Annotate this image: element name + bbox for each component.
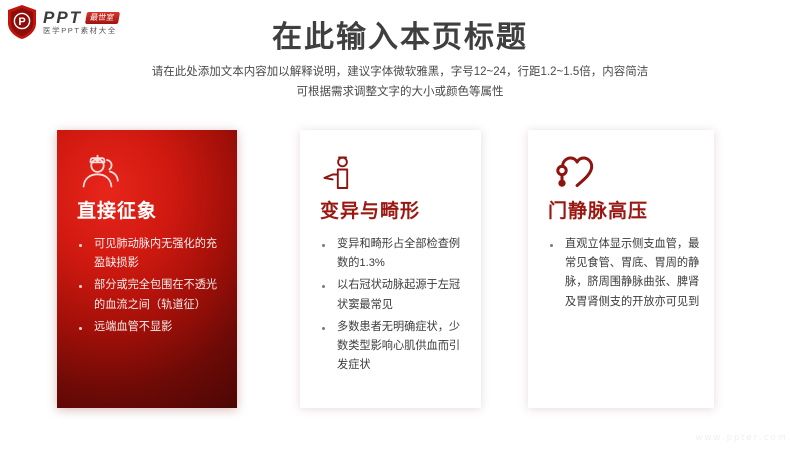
list-item: 远端血管不显影 — [77, 318, 221, 337]
card-bullet-list: 可见肺动脉内无强化的充盈缺损影 部分或完全包围在不透光的血流之间（轨道征） 远端… — [77, 235, 221, 337]
page-subtitle-line-1: 请在此处添加文本内容加以解释说明，建议字体微软雅黑，字号12~24，行距1.2~… — [0, 62, 800, 82]
card-title: 直接征象 — [77, 202, 221, 223]
doctor-group-icon — [77, 152, 221, 198]
page-title: 在此输入本页标题 — [0, 12, 800, 56]
card-direct-signs[interactable]: 直接征象 可见肺动脉内无强化的充盈缺损影 部分或完全包围在不透光的血流之间（轨道… — [57, 130, 237, 408]
list-item: 变异和畸形占全部检查例数的1.3% — [320, 235, 467, 274]
card-bullet-list: 变异和畸形占全部检查例数的1.3% 以右冠状动脉起源于左冠状窦最常见 多数患者无… — [320, 235, 467, 376]
list-item: 部分或完全包围在不透光的血流之间（轨道征） — [77, 276, 221, 315]
card-bullet-list: 直观立体显示侧支血管，最常见食管、胃底、胃周的静脉，脐周围静脉曲张、脾肾及胃肾侧… — [548, 235, 700, 312]
card-title: 变异与畸形 — [320, 202, 467, 223]
card-title: 门静脉高压 — [548, 202, 700, 223]
list-item: 多数患者无明确症状，少数类型影响心肌供血而引发症状 — [320, 318, 467, 376]
presenter-person-icon — [320, 152, 467, 198]
heart-stethoscope-icon — [548, 152, 700, 198]
site-watermark: www.ppter.com — [696, 432, 788, 442]
card-portal-hypertension[interactable]: 门静脉高压 直观立体显示侧支血管，最常见食管、胃底、胃周的静脉，脐周围静脉曲张、… — [528, 130, 714, 408]
card-variation-deformity[interactable]: 变异与畸形 变异和畸形占全部检查例数的1.3% 以右冠状动脉起源于左冠状窦最常见… — [300, 130, 481, 408]
list-item: 可见肺动脉内无强化的充盈缺损影 — [77, 235, 221, 274]
page-subtitle-line-2: 可根据需求调整文字的大小或颜色等属性 — [0, 82, 800, 102]
page-subtitle: 请在此处添加文本内容加以解释说明，建议字体微软雅黑，字号12~24，行距1.2~… — [0, 62, 800, 102]
list-item: 直观立体显示侧支血管，最常见食管、胃底、胃周的静脉，脐周围静脉曲张、脾肾及胃肾侧… — [548, 235, 700, 312]
card-group: 直接征象 可见肺动脉内无强化的充盈缺损影 部分或完全包围在不透光的血流之间（轨道… — [57, 130, 747, 408]
list-item: 以右冠状动脉起源于左冠状窦最常见 — [320, 276, 467, 315]
